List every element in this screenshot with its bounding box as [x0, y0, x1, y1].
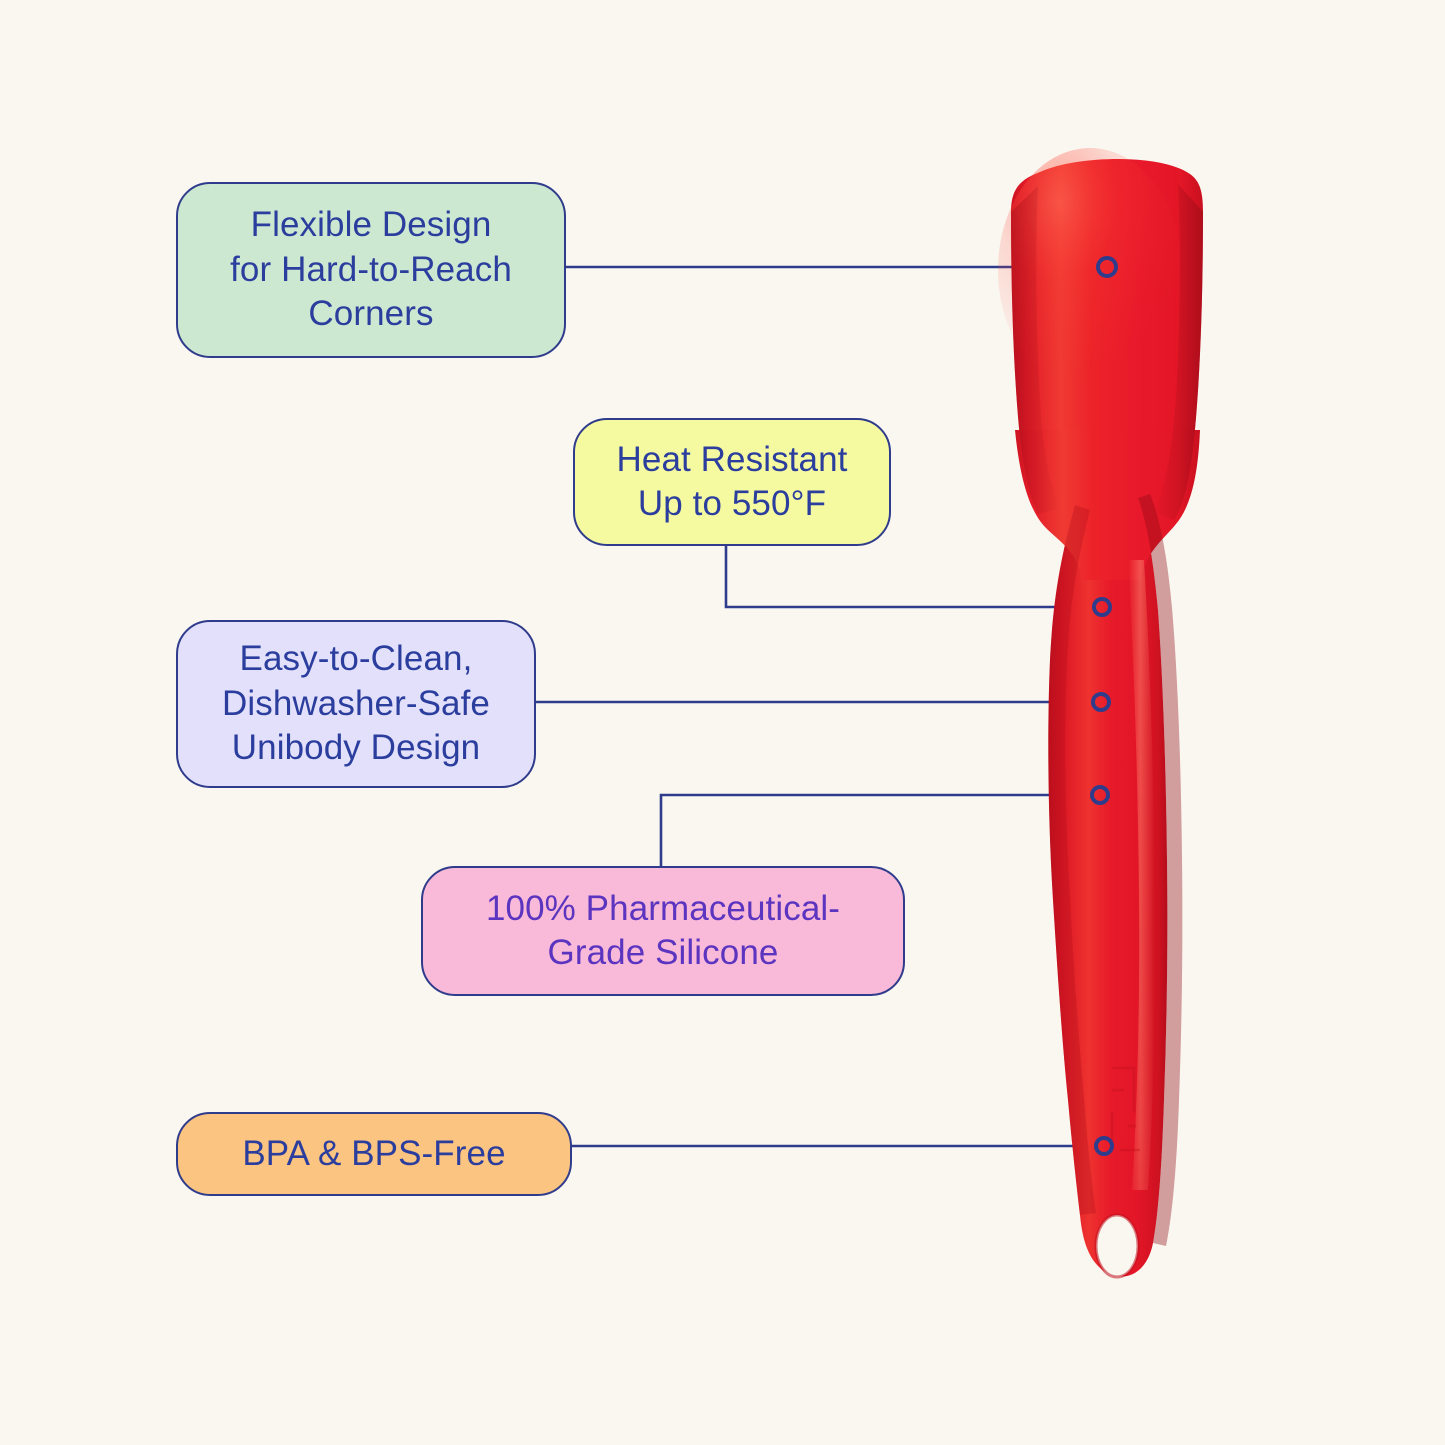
callout-heat-resistant-line-1: Heat Resistant — [617, 438, 848, 482]
connector-pharmaceutical-grade — [661, 795, 1093, 866]
callout-pharmaceutical-grade-silicone[interactable]: 100% Pharmaceutical- Grade Silicone — [421, 866, 905, 996]
callout-flexible-design-line-3: Corners — [230, 292, 512, 336]
callout-bpa-bps-free-line-1: BPA & BPS-Free — [242, 1132, 505, 1176]
callout-easy-to-clean-line-1: Easy-to-Clean, — [222, 637, 490, 681]
callout-easy-to-clean-line-2: Dishwasher-Safe — [222, 682, 490, 726]
spatula-illustration — [998, 148, 1203, 1277]
callout-easy-to-clean-line-3: Unibody Design — [222, 726, 490, 770]
callout-flexible-design[interactable]: Flexible Design for Hard-to-Reach Corner… — [176, 182, 566, 358]
callout-pharmaceutical-grade-line-2: Grade Silicone — [486, 931, 840, 975]
callout-bpa-bps-free[interactable]: BPA & BPS-Free — [176, 1112, 572, 1196]
callout-heat-resistant-line-2: Up to 550°F — [617, 482, 848, 526]
callout-easy-to-clean[interactable]: Easy-to-Clean, Dishwasher-Safe Unibody D… — [176, 620, 536, 788]
connector-heat-resistant — [726, 546, 1095, 607]
infographic-canvas: Flexible Design for Hard-to-Reach Corner… — [0, 0, 1445, 1445]
callout-flexible-design-line-1: Flexible Design — [230, 203, 512, 247]
callout-heat-resistant[interactable]: Heat Resistant Up to 550°F — [573, 418, 891, 546]
connector-lines — [536, 267, 1100, 1146]
callout-flexible-design-line-2: for Hard-to-Reach — [230, 248, 512, 292]
callout-pharmaceutical-grade-line-1: 100% Pharmaceutical- — [486, 887, 840, 931]
